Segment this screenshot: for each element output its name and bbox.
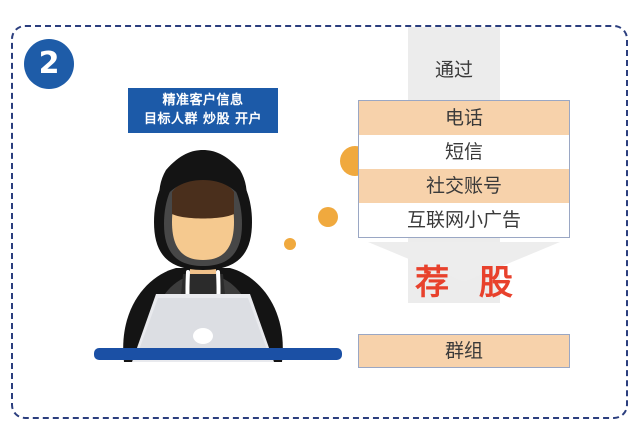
channel-table: 电话 短信 社交账号 互联网小广告 (358, 100, 570, 238)
orange-dot-medium-icon (318, 207, 338, 227)
desk-bar (94, 348, 342, 360)
infographic-canvas: 2 精准客户信息 目标人群 炒股 开户 通过 (0, 0, 640, 434)
hooded-hacker-illustration (88, 150, 318, 362)
table-row: 互联网小广告 (359, 203, 569, 237)
group-box: 群组 (358, 334, 570, 368)
highlight-text: 荐 股 (358, 265, 570, 302)
orange-dot-small-icon (284, 238, 296, 250)
target-info-caption: 精准客户信息 目标人群 炒股 开户 (128, 88, 278, 133)
table-row: 短信 (359, 135, 569, 169)
column-header-label: 通过 (408, 55, 500, 82)
step-number-text: 2 (39, 49, 60, 79)
table-row: 社交账号 (359, 169, 569, 203)
table-row: 电话 (359, 101, 569, 135)
caption-line-1: 精准客户信息 (162, 92, 243, 111)
step-number-badge: 2 (24, 39, 74, 89)
caption-line-2: 目标人群 炒股 开户 (144, 111, 262, 130)
